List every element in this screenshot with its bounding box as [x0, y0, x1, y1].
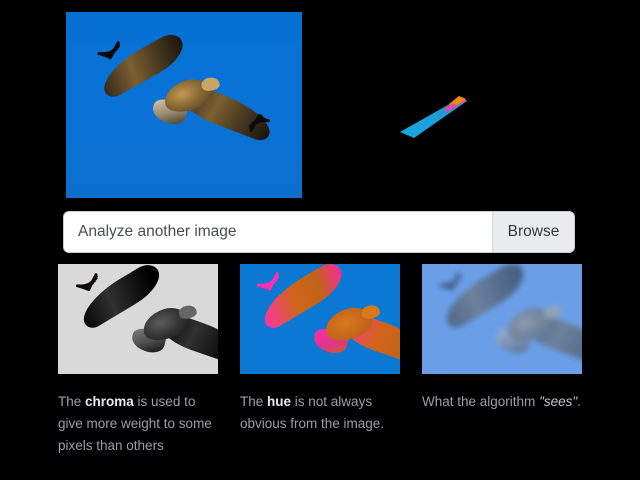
caption-segment: The: [240, 394, 267, 409]
eagle-feather: [257, 284, 270, 287]
search-input[interactable]: [64, 212, 492, 252]
eagle-feather: [76, 285, 89, 288]
eagle-illustration-grayscale: [70, 270, 205, 369]
wedge-plot-svg: [396, 92, 468, 142]
browse-button[interactable]: Browse: [492, 212, 574, 252]
caption-segment: chroma: [85, 394, 134, 409]
card-caption-hue: The hue is not always obvious from the i…: [240, 391, 400, 435]
hue-map-thumbnail[interactable]: [240, 264, 400, 374]
caption-segment: .: [577, 394, 581, 409]
eagle-feather: [439, 284, 452, 287]
analysis-cards-row: The chroma is used to give more weight t…: [58, 264, 582, 457]
chroma-grayscale-thumbnail[interactable]: [58, 264, 218, 374]
caption-segment: What the algorithm: [422, 394, 539, 409]
hue-chroma-wedge-plot: [396, 92, 468, 142]
caption-segment: hue: [267, 394, 291, 409]
eagle-illustration: [92, 39, 276, 165]
card-algorithm-view: What the algorithm "sees".: [422, 264, 582, 457]
card-caption-chroma: The chroma is used to give more weight t…: [58, 391, 218, 457]
eagle-head: [200, 76, 221, 93]
algorithm-view-thumbnail[interactable]: [422, 264, 582, 374]
caption-segment: The: [58, 394, 85, 409]
card-chroma: The chroma is used to give more weight t…: [58, 264, 218, 457]
analyze-image-search-bar[interactable]: Browse: [64, 212, 574, 252]
card-caption-algorithm-view: What the algorithm "sees".: [422, 391, 582, 413]
eagle-illustration-blurred: [433, 269, 571, 370]
hero-row: [0, 0, 640, 206]
caption-segment: "sees": [539, 394, 577, 409]
hero-image[interactable]: [66, 12, 302, 198]
eagle-illustration-hue: [251, 269, 389, 370]
card-hue: The hue is not always obvious from the i…: [240, 264, 400, 457]
